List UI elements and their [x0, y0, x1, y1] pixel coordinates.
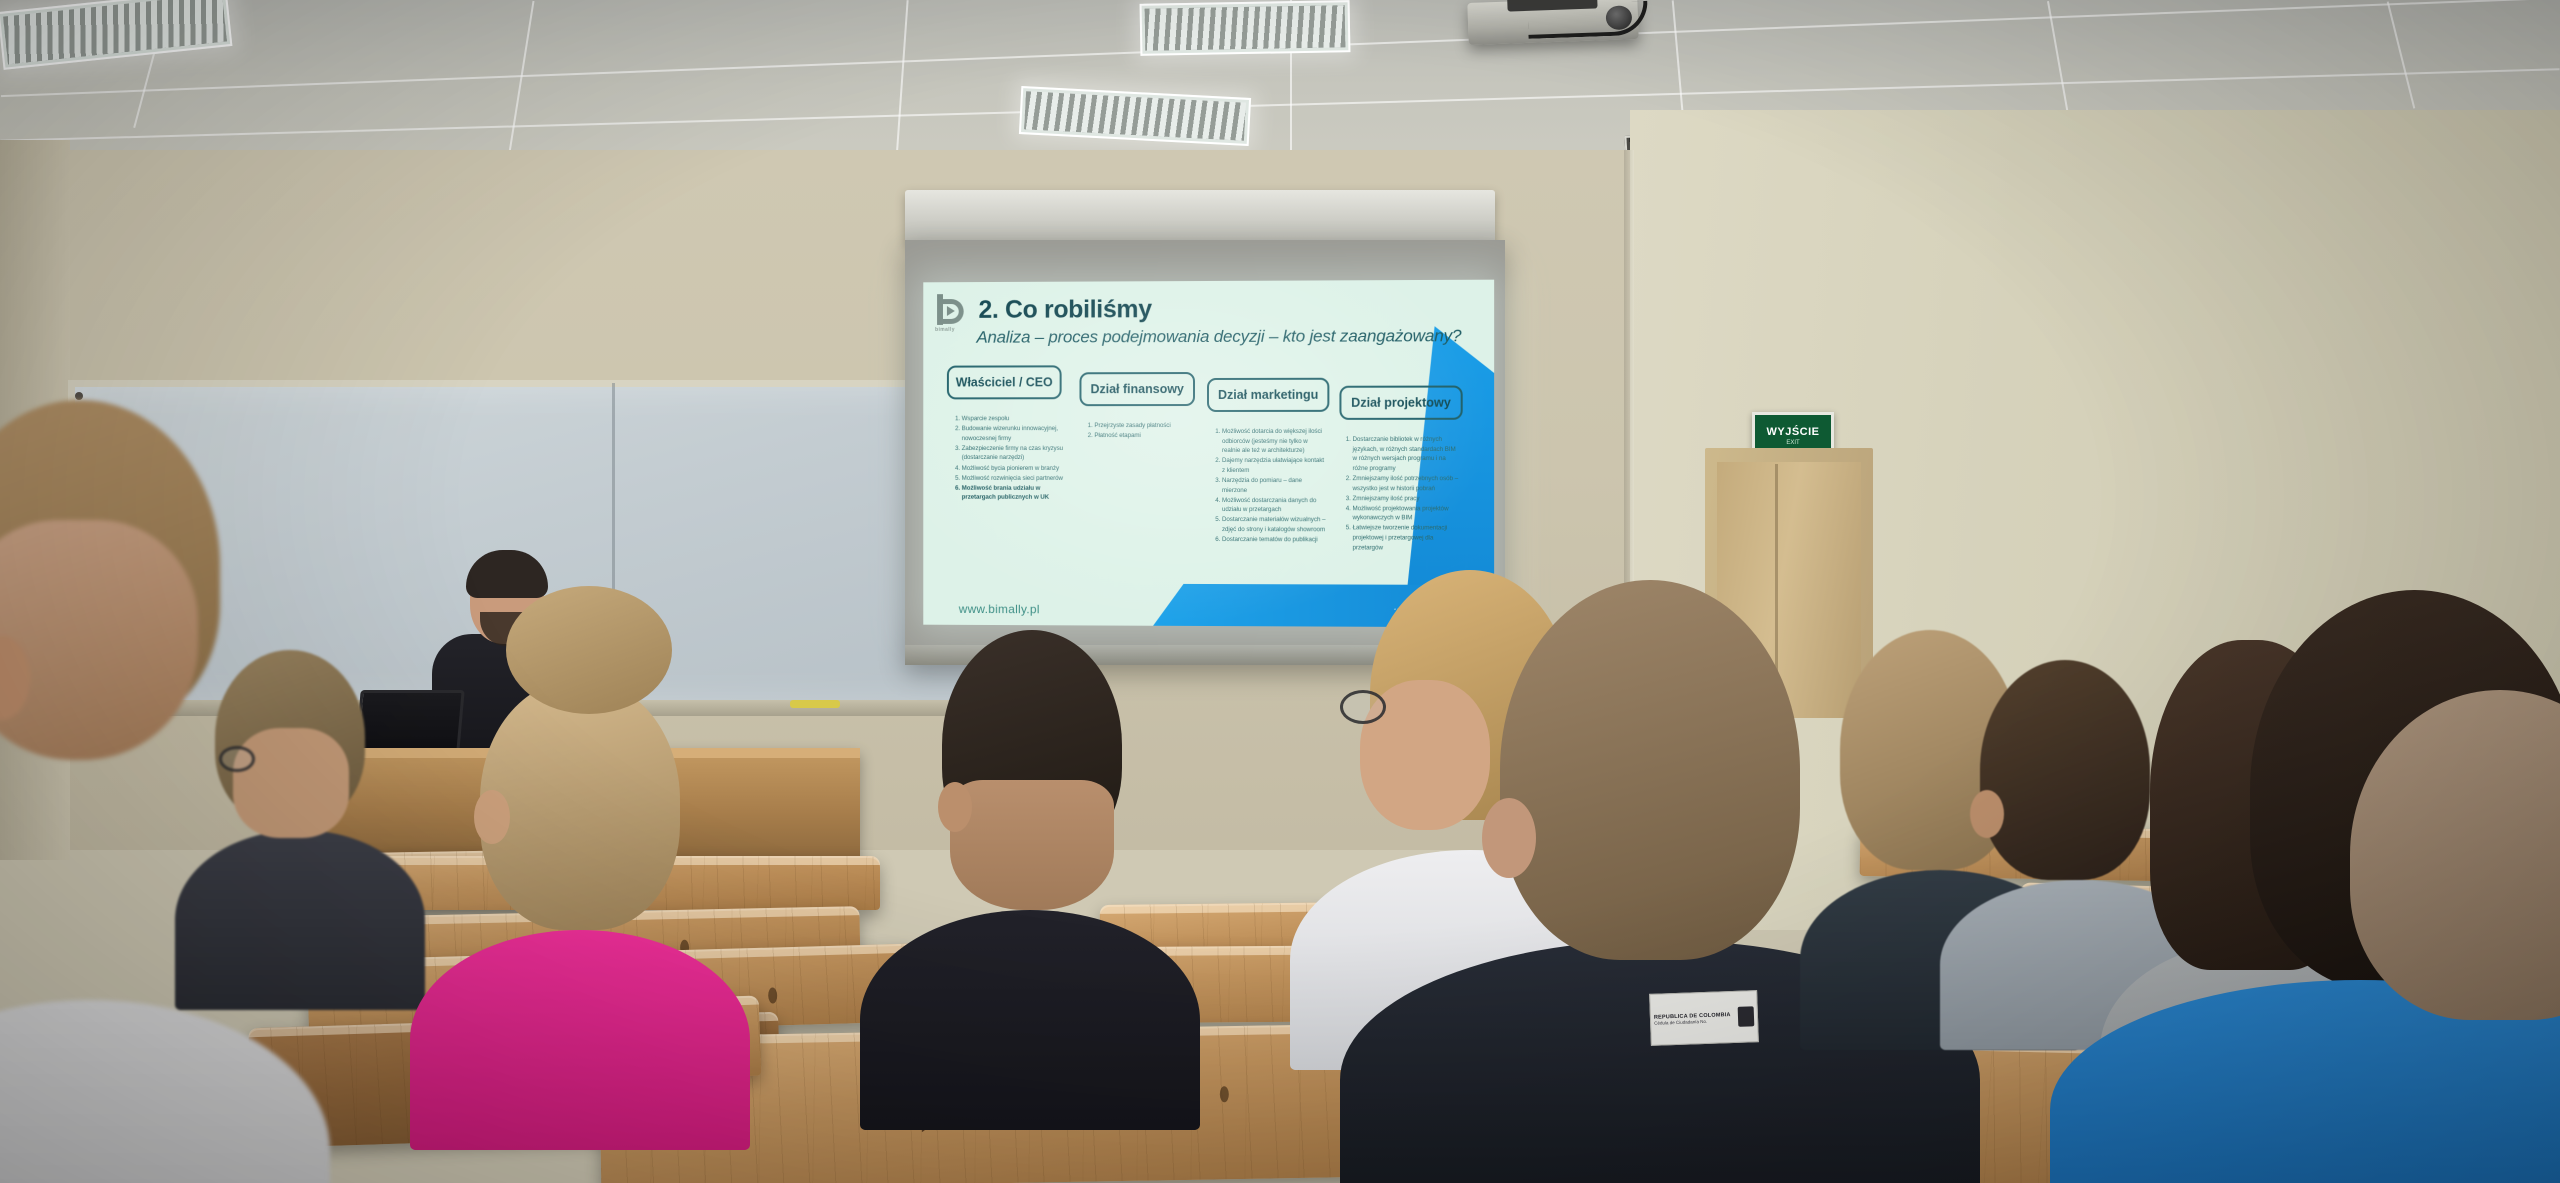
list-item: Zmniejszamy ilość pracy [1353, 494, 1461, 504]
lecture-hall-photo: bimally 2. Co robiliśmy Analiza – proces… [0, 0, 2560, 1183]
whiteboard-pin [75, 392, 83, 400]
student-glasses-left [185, 630, 405, 960]
exit-sign-sublabel: EXIT [1786, 440, 1799, 446]
hair-bun [506, 586, 672, 714]
list-item: Możliwość rozwinięcia sieci partnerów [962, 474, 1070, 484]
bimally-logo-icon: bimally [935, 294, 969, 338]
whiteboard-marker [790, 700, 840, 708]
ceiling-light-left [0, 0, 232, 70]
slide-column-2: Możliwość dotarcia do większej ilości od… [1209, 427, 1327, 546]
list-item: Możliwość projektowania projektów wykona… [1353, 504, 1461, 523]
pill-wlasciciel-ceo: Właściciel / CEO [947, 365, 1062, 399]
student-bun-pink [420, 600, 740, 1100]
list-item: Możliwość brania udziału w przetargach p… [962, 484, 1070, 503]
exit-sign-label: WYJŚCIE [1766, 426, 1819, 438]
pill-dzial-marketingu: Dział marketingu [1207, 378, 1329, 412]
list-item: Dostarczanie tematów do publikacji [1222, 535, 1327, 545]
slide-department-pills: Właściciel / CEO Dział finansowy Dział m… [947, 364, 1469, 365]
list-item: Dostarczanie bibliotek w różnych językac… [1353, 435, 1461, 474]
list-item: Zmniejszamy ilość potrzebnych osób – wsz… [1353, 474, 1461, 493]
shirt-sticker: REPUBLICA DE COLOMBIA Cédula de Ciudadan… [1649, 990, 1759, 1046]
slide-column-0: Wsparcie zespołu Budowanie wizerunku inn… [949, 414, 1070, 503]
glasses-icon [219, 746, 255, 772]
ceiling-light-center [1140, 0, 1351, 56]
list-item: Możliwość bycia pionierem w branży [962, 463, 1070, 473]
list-item: Wsparcie zespołu [962, 414, 1070, 424]
list-item: Łatwiejsze tworzenie dokumentacji projek… [1353, 524, 1461, 553]
list-item: Dajemy narzędzia ułatwiające kontakt z k… [1222, 456, 1327, 475]
list-item: Przejrzyste zasady płatności [1094, 421, 1191, 431]
projection-screen-housing [905, 190, 1495, 245]
ceiling-light-center-2 [1019, 86, 1251, 146]
glasses-icon [1340, 690, 1386, 724]
student-dark-hair-center [880, 630, 1180, 1100]
list-item: Dostarczanie materiałów wizualnych – zdj… [1222, 516, 1327, 535]
list-item: Możliwość dotarcia do większej ilości od… [1222, 427, 1327, 456]
pill-dzial-projektowy: Dział projektowy [1339, 386, 1462, 420]
student-blue-shirt [2050, 930, 2560, 1183]
pill-dzial-finansowy: Dział finansowy [1079, 372, 1195, 406]
shirt-pink [410, 930, 750, 1150]
slide-column-1: Przejrzyste zasady płatności Płatność et… [1081, 421, 1191, 441]
list-item: Możliwość dostarczania danych do udziału… [1222, 496, 1327, 515]
sticker-photo [1738, 1006, 1755, 1027]
list-item: Zabezpieczenie firmy na czas kryzysu (do… [962, 444, 1070, 463]
slide-column-3: Dostarczanie bibliotek w różnych językac… [1339, 435, 1460, 554]
list-item: Narzędzia do pomiaru – dane mierzone [1222, 476, 1327, 495]
student-buzzcut-center: REPUBLICA DE COLOMBIA Cédula de Ciudadan… [1440, 580, 1860, 1183]
list-item: Budowanie wizerunku innowacyjnej, nowocz… [962, 424, 1070, 443]
logo-wordmark: bimally [935, 327, 955, 333]
slide-subtitle: Analiza – proces podejmowania decyzji – … [977, 326, 1462, 348]
ceiling-projector [1467, 0, 1638, 45]
list-item: Płatność etapami [1094, 431, 1191, 441]
slide-title: 2. Co robiliśmy [978, 295, 1151, 325]
slide-website-url: www.bimally.pl [959, 602, 1040, 616]
